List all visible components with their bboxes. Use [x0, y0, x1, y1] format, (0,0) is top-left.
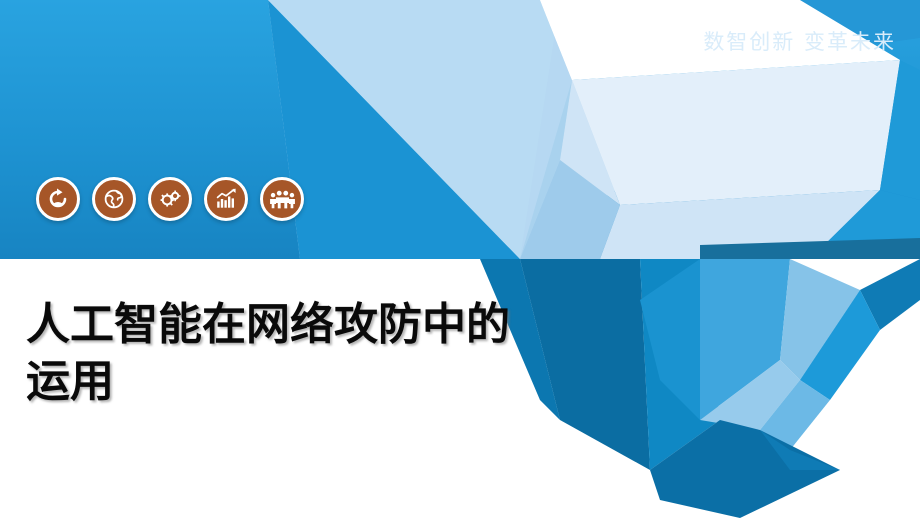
low-poly-artwork [0, 0, 920, 518]
tagline-text: 数智创新 变革未来 [703, 26, 896, 56]
refresh-arrow-icon [46, 187, 70, 211]
globe-icon [102, 187, 126, 211]
icon-badge-gears[interactable] [148, 177, 192, 221]
icon-badge-row [36, 177, 304, 221]
gears-icon [158, 187, 183, 212]
people-group-icon [269, 187, 296, 211]
bar-chart-growth-icon [214, 187, 238, 211]
poly-pale-sheet [572, 60, 900, 205]
icon-badge-refresh-arrow[interactable] [36, 177, 80, 221]
icon-badge-people-group[interactable] [260, 177, 304, 221]
page-title: 人工智能在网络攻防中的运用 [26, 296, 516, 410]
icon-badge-bar-chart-growth[interactable] [204, 177, 248, 221]
presentation-slide: 数智创新 变革未来 [0, 0, 920, 518]
icon-badge-globe[interactable] [92, 177, 136, 221]
